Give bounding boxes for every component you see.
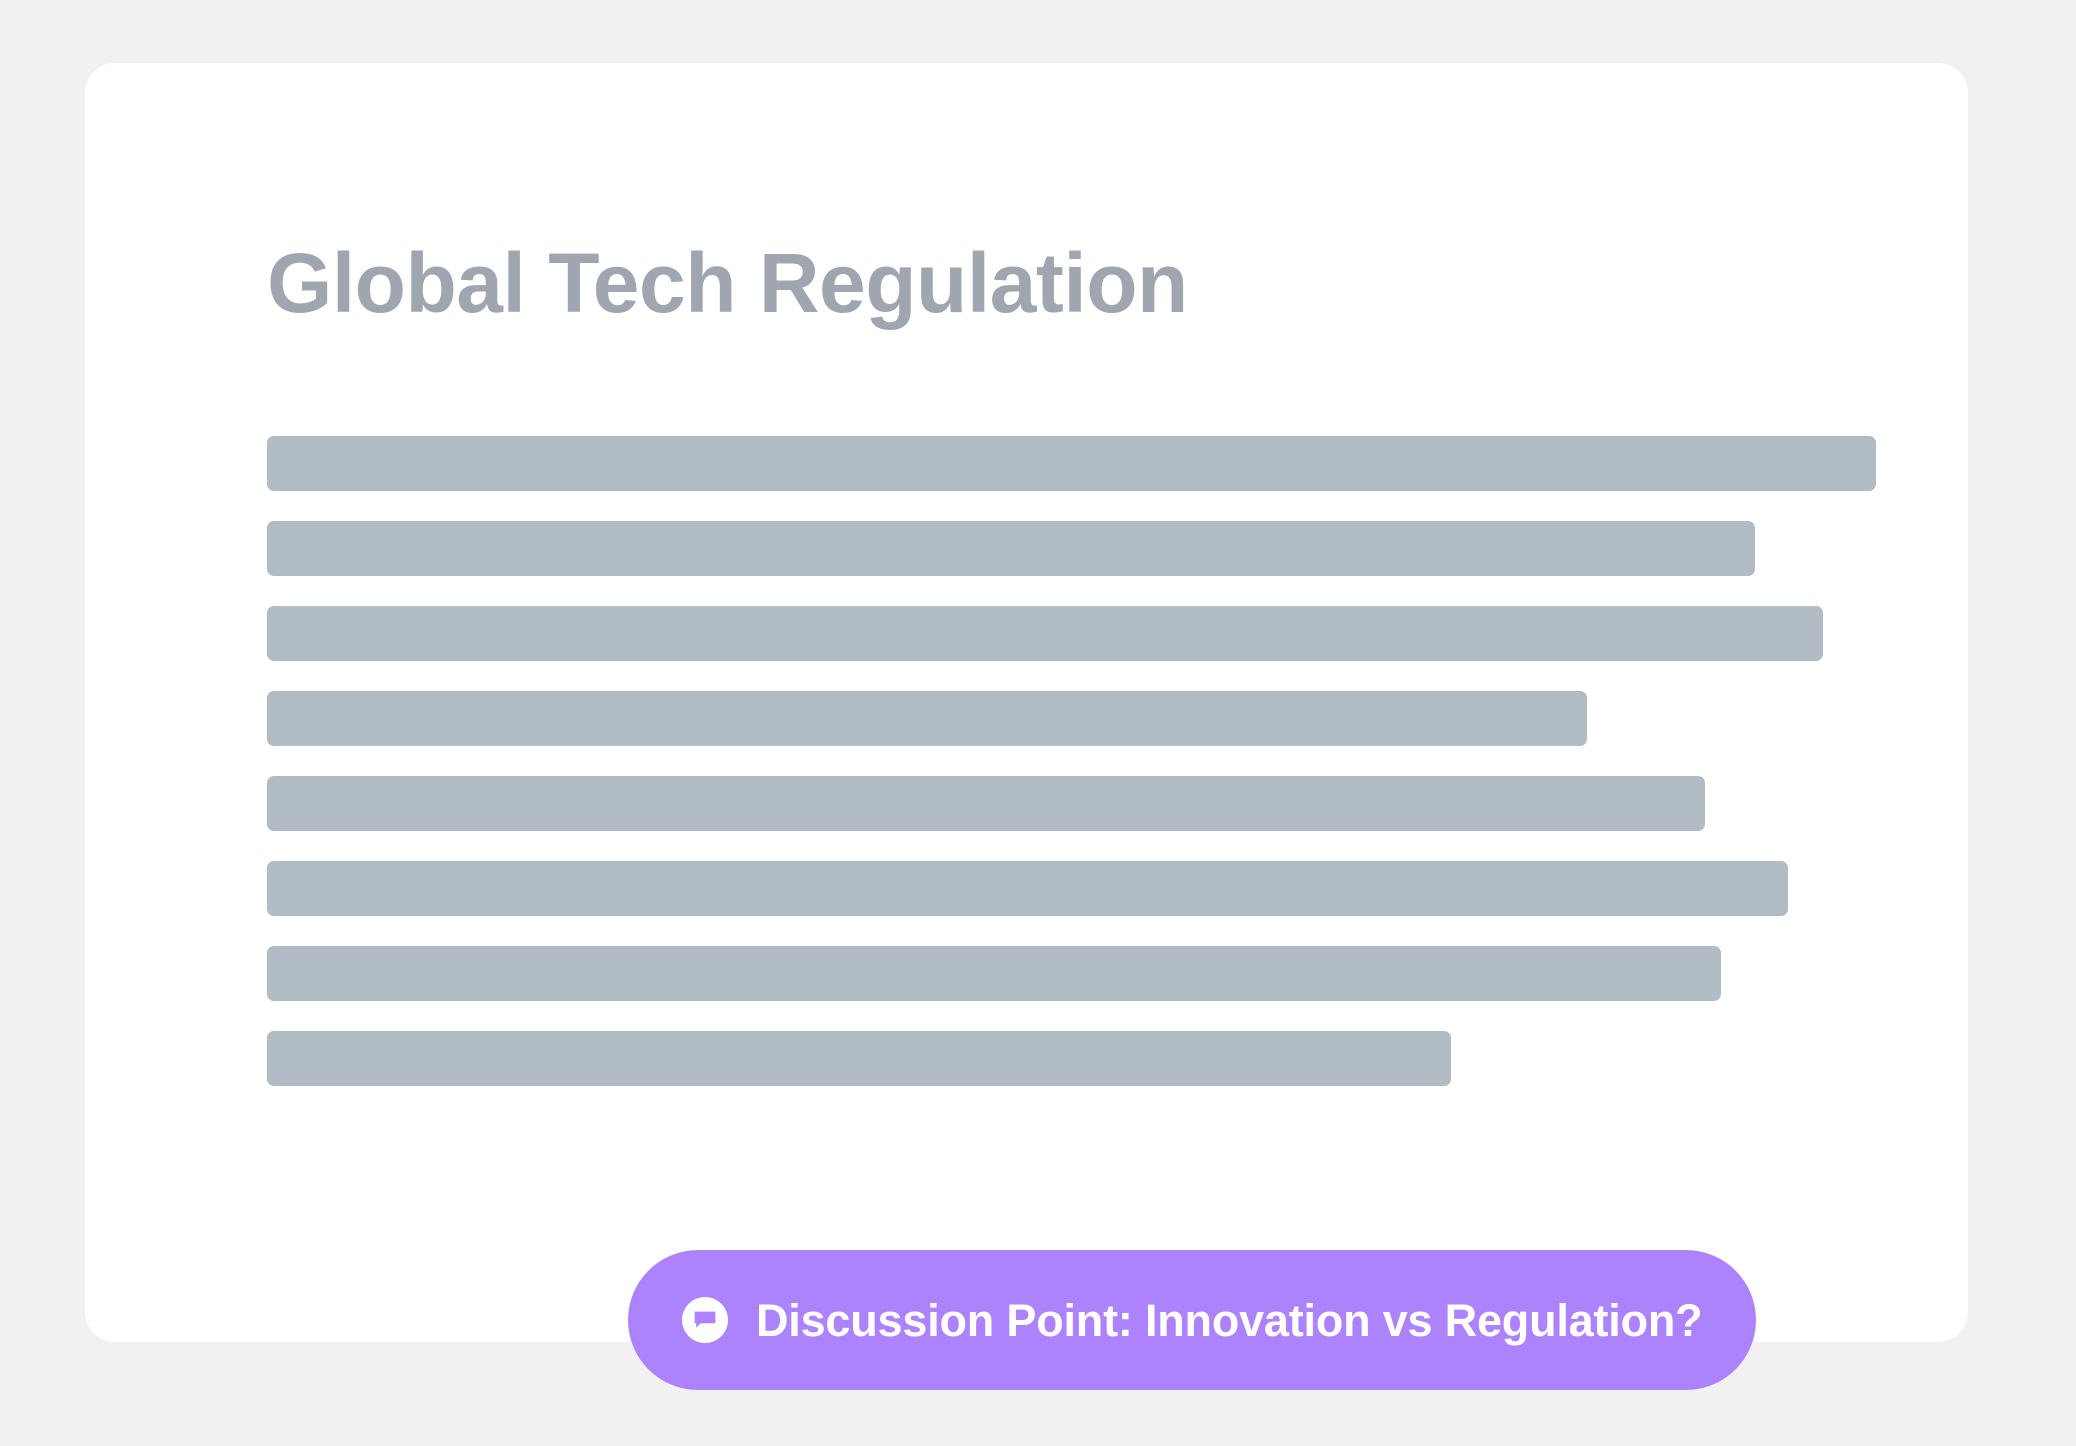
text-line bbox=[267, 521, 1755, 576]
text-block bbox=[267, 606, 1967, 831]
slide-canvas: Global Tech Regulation Discussion Point:… bbox=[0, 0, 2076, 1446]
discussion-point-label: Discussion Point: Innovation vs Regulati… bbox=[756, 1298, 1702, 1343]
text-block bbox=[267, 436, 1967, 576]
text-line bbox=[267, 606, 1823, 661]
text-line bbox=[267, 861, 1788, 916]
page-title: Global Tech Regulation bbox=[267, 241, 1188, 325]
text-line bbox=[267, 946, 1721, 1001]
text-line bbox=[267, 776, 1705, 831]
discussion-point-badge[interactable]: Discussion Point: Innovation vs Regulati… bbox=[628, 1250, 1756, 1390]
body-content-placeholder bbox=[267, 436, 1967, 1086]
text-block bbox=[267, 861, 1967, 1086]
text-line bbox=[267, 436, 1876, 491]
text-line bbox=[267, 691, 1587, 746]
text-line bbox=[267, 1031, 1451, 1086]
slide-card: Global Tech Regulation bbox=[85, 63, 1968, 1342]
speech-bubble-icon bbox=[682, 1297, 728, 1343]
